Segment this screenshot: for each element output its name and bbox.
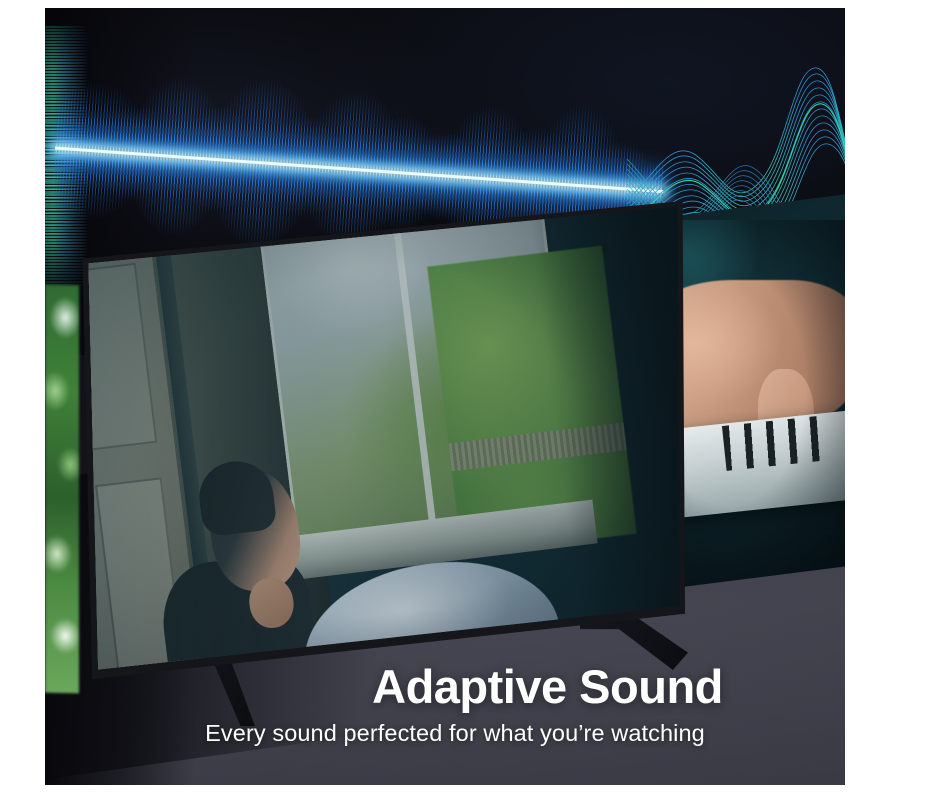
caption-block: Adaptive Sound Every sound perfected for…: [45, 663, 845, 747]
screen-gloss: [80, 201, 685, 681]
page-title: Adaptive Sound: [45, 663, 845, 711]
screen-scene: [80, 201, 685, 681]
tv-screen: [80, 201, 685, 681]
page-subtitle: Every sound perfected for what you’re wa…: [45, 719, 845, 747]
promo-banner: Adaptive Sound Every sound perfected for…: [45, 8, 845, 785]
foliage-strip-icon: [45, 285, 79, 694]
television: [80, 201, 685, 681]
